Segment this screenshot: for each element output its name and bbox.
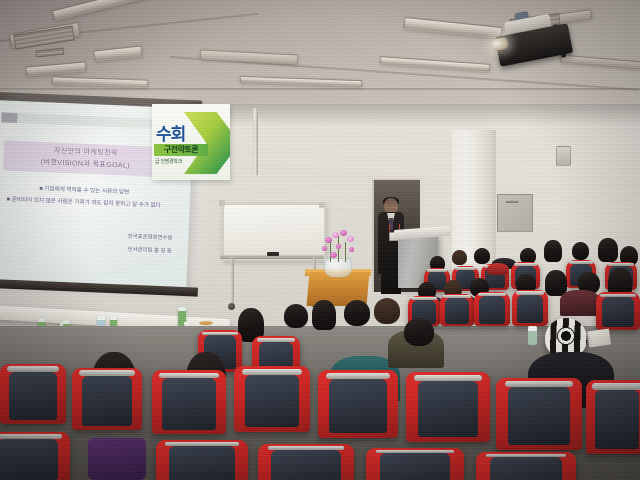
audience-head [572, 242, 589, 260]
seat-cushion [0, 439, 58, 480]
banner-hanging-rod [253, 108, 258, 176]
banner-chevron-graphic [184, 112, 230, 174]
orchid-stem [345, 242, 346, 262]
auditorium-seat[interactable] [496, 378, 582, 450]
orchid-bloom [347, 236, 354, 242]
seat-cushion [169, 446, 235, 480]
white-paper[interactable] [587, 329, 611, 348]
auditorium-seat[interactable] [258, 444, 354, 480]
seat-trim [376, 450, 454, 454]
seat-trim [443, 295, 470, 298]
seat-cushion [479, 296, 505, 323]
auditorium-seat[interactable] [0, 432, 70, 480]
seat-trim [202, 332, 237, 336]
seat-trim [414, 375, 481, 381]
seat-cushion [9, 372, 57, 420]
orchid-bloom [325, 237, 332, 243]
whiteboard-clip [319, 202, 325, 208]
seat-trim [455, 267, 477, 270]
orchid-stem [330, 240, 331, 262]
audience-head [312, 300, 336, 330]
orchid-bloom [332, 232, 339, 238]
beanie-swirl-pattern [557, 327, 575, 345]
seat-cushion [329, 379, 387, 433]
seat-trim [268, 446, 345, 450]
audience-head [284, 304, 308, 328]
banner-title-text: 수회 [156, 120, 185, 145]
orchid-bloom [340, 230, 347, 236]
banner-small-text: 급 천명경학과 [155, 158, 182, 165]
seat-trim [257, 338, 295, 342]
audience-head [374, 298, 400, 324]
whiteboard-leg [231, 257, 234, 305]
auditorium-seat[interactable] [474, 292, 510, 326]
whiteboard-caster [228, 303, 235, 310]
seat-trim [326, 373, 390, 379]
seat-cushion [418, 381, 478, 437]
seat-cushion [82, 376, 132, 426]
ceiling-seam [0, 88, 640, 90]
audience-head [344, 300, 370, 326]
wall-access-panel [497, 194, 533, 232]
seat-trim [411, 297, 437, 300]
orchid-stem [338, 236, 339, 262]
wall-speaker-icon [556, 146, 571, 166]
seat-trim [427, 269, 448, 272]
audience-head [474, 248, 490, 264]
seat-trim [79, 370, 135, 376]
photograph-auditorium-presentation: 자신만의 마케팅전략 (비전VISION과 목표GOAL) ■ 기업에게 먹혀들… [0, 0, 640, 480]
audience-head [544, 240, 562, 262]
auditorium-seat[interactable] [586, 380, 640, 454]
event-banner: 수회 구전략토론 급 천명경학과 [152, 104, 230, 180]
seat-cushion [162, 378, 215, 429]
auditorium-seat[interactable] [440, 294, 474, 326]
seat-trim [165, 442, 239, 446]
seat-trim [505, 381, 574, 387]
seat-cushion [602, 297, 634, 327]
seat-trim [600, 294, 635, 297]
seat-cushion [380, 453, 451, 480]
audience-head [404, 318, 434, 346]
auditorium-seat[interactable] [406, 372, 490, 442]
seat-trim [569, 261, 593, 264]
auditorium-seat[interactable] [476, 452, 576, 480]
seat-cushion [245, 375, 300, 428]
auditorium-seat[interactable] [152, 370, 226, 434]
seat-cushion [508, 387, 570, 445]
seat-trim [608, 263, 634, 266]
banner-subtitle-text: 구전략토론 [154, 144, 208, 156]
auditorium-seat[interactable] [596, 292, 640, 330]
seat-trim [514, 263, 537, 266]
auditorium-seat[interactable] [318, 370, 398, 438]
auditorium-seat[interactable] [512, 290, 548, 326]
seat-trim [7, 366, 60, 371]
seat-cushion [517, 295, 543, 324]
seat-trim [242, 369, 303, 375]
audience-head [452, 250, 467, 265]
seat-cushion [271, 450, 340, 480]
audience-red-cap [487, 263, 509, 275]
orchid-bloom [349, 247, 354, 252]
whiteboard-marker[interactable] [267, 252, 279, 256]
orchid-bloom [330, 252, 337, 258]
seat-trim [159, 373, 218, 379]
orchid-bloom [336, 244, 341, 249]
snack-food [199, 321, 213, 325]
seat-cushion [595, 390, 640, 449]
audience-head [598, 238, 618, 262]
seat-cushion [490, 457, 562, 480]
seat-trim [486, 454, 566, 458]
whiteboard-clip [219, 200, 225, 206]
orchid-bloom [322, 246, 327, 251]
audience-shoulders [560, 290, 600, 316]
auditorium-seat[interactable] [72, 368, 142, 430]
seat-trim [0, 434, 62, 439]
auditorium-seat[interactable] [0, 364, 66, 424]
audience-bag[interactable] [88, 438, 146, 480]
seat-trim [516, 291, 545, 294]
seat-trim [478, 293, 507, 296]
auditorium-seat[interactable] [366, 448, 464, 480]
auditorium-seat[interactable] [234, 366, 310, 432]
held-drink-bottle[interactable] [528, 326, 537, 345]
auditorium-seat[interactable] [156, 440, 248, 480]
seat-trim [592, 383, 640, 390]
seat-cushion [445, 298, 469, 324]
